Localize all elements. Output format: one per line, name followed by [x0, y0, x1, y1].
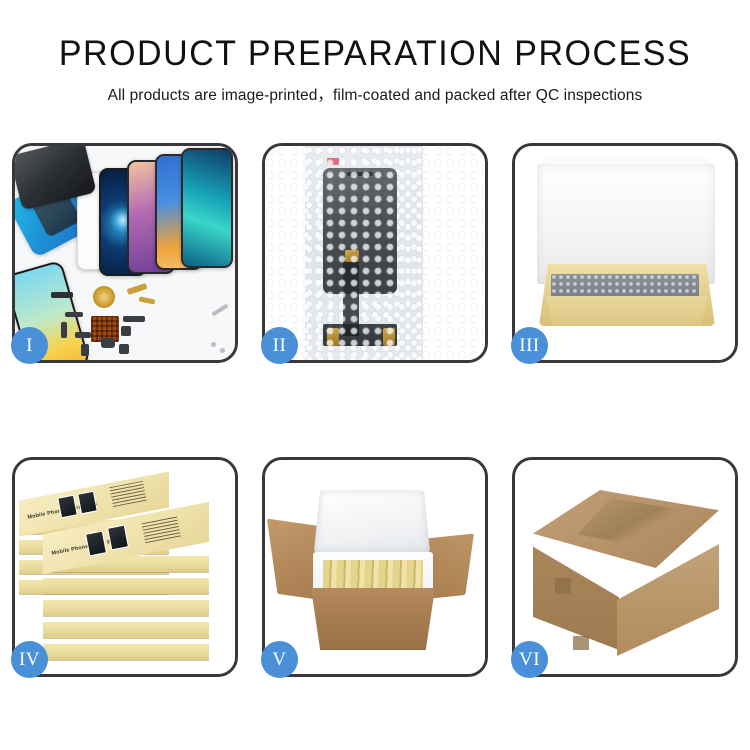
gold-connector-left [327, 328, 339, 346]
copper-coil-part [93, 286, 115, 308]
step-badge-1: I [11, 327, 48, 364]
cable-part-d [123, 316, 145, 322]
step-3-image [515, 146, 735, 360]
red-label-tab [327, 158, 339, 165]
gold-connector-right [383, 328, 395, 346]
speaker-part [101, 338, 115, 348]
gold-box-layer-6 [43, 578, 209, 594]
process-step-panel-5[interactable]: V [262, 457, 488, 677]
step-badge-3: III [511, 327, 548, 364]
step-1-image [15, 146, 235, 360]
process-step-panel-3[interactable]: III [512, 143, 738, 363]
page-subtitle: All products are image-printed，film-coat… [0, 83, 750, 105]
page-header: PRODUCT PREPARATION PROCESS All products… [0, 0, 750, 105]
step-badge-5: V [261, 641, 298, 678]
process-step-grid: I II III [12, 143, 738, 677]
foam-box-lid [314, 490, 430, 553]
step-2-image [265, 146, 485, 360]
phone-screen-teal-wallpaper [181, 148, 233, 268]
page-title: PRODUCT PREPARATION PROCESS [11, 34, 739, 74]
button-part [121, 326, 131, 336]
packed-phone-screen [323, 168, 397, 294]
step-4-image: Mobile Phone Spare Parts Mobile Phone Sp… [15, 460, 235, 674]
gold-box-layer-7 [43, 600, 209, 616]
step-badge-6: VI [511, 641, 548, 678]
camera-part [81, 344, 89, 356]
carton-body [307, 588, 439, 650]
carton-left-face [533, 540, 619, 650]
cable-part-a [65, 312, 83, 317]
cable-part-b [61, 322, 67, 338]
gold-flex-part [127, 283, 148, 295]
carton-tape-mark-lower [573, 636, 589, 650]
process-step-panel-6[interactable]: VI [512, 457, 738, 677]
process-step-panel-4[interactable]: Mobile Phone Spare Parts Mobile Phone Sp… [12, 457, 238, 677]
gold-box-layer-8 [43, 622, 209, 638]
gold-box-layer-9 [43, 644, 209, 660]
screw-part-b [220, 348, 225, 353]
flex-strip-part [51, 292, 73, 298]
step-5-image [265, 460, 485, 674]
step-6-image [515, 460, 735, 674]
gold-connector-part [139, 296, 156, 304]
cable-part-c [75, 332, 91, 338]
carton-tape-mark-upper [555, 578, 571, 594]
step-badge-4: IV [11, 641, 48, 678]
tweezers-part [211, 304, 228, 317]
gold-connector-mid [345, 250, 359, 262]
phone-earpiece [347, 172, 373, 176]
step-badge-2: II [261, 327, 298, 364]
process-step-panel-1[interactable]: I [12, 143, 238, 363]
process-step-panel-2[interactable]: II [262, 143, 488, 363]
gold-box-front-panel [539, 296, 715, 326]
taptic-part [119, 344, 129, 354]
screw-part-a [211, 342, 216, 347]
